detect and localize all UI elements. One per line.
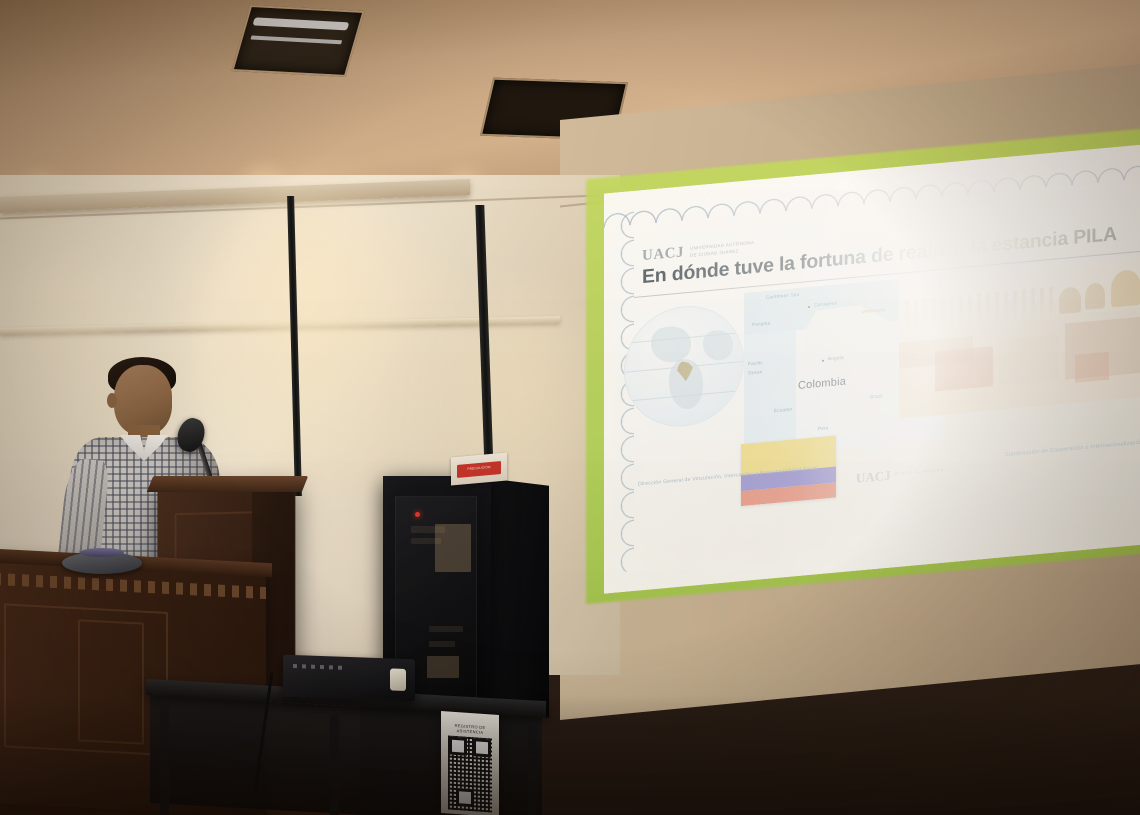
qr-code-icon[interactable]	[448, 735, 492, 782]
dentil-molding	[0, 573, 266, 599]
attendance-qr-sign[interactable]: REGISTRO DE ASISTENCIA	[441, 711, 499, 815]
map-label: Peru	[818, 425, 829, 431]
ceiling-vent-icon	[231, 5, 364, 77]
warning-label: PRECAUCIÓN	[451, 453, 507, 486]
warning-label-text: PRECAUCIÓN	[467, 466, 490, 472]
globe-graphic	[624, 301, 744, 432]
qr-code-lower	[448, 779, 492, 812]
projection-screen: UACJ UNIVERSIDAD AUTÓNOMA DE CIUDAD JUÁR…	[600, 140, 1140, 590]
av-rack-side	[487, 478, 549, 718]
slide-footer-right: Subdirección de Cooperación e Internacio…	[1005, 438, 1140, 460]
power-led-icon	[415, 512, 420, 517]
qr-sign-caption: REGISTRO DE ASISTENCIA	[441, 722, 499, 736]
podium-top	[147, 476, 308, 492]
projector-lens-icon	[390, 668, 406, 691]
presentation-room-photo: UACJ UNIVERSIDAD AUTÓNOMA DE CIUDAD JUÁR…	[0, 0, 1140, 815]
cartagena-photo	[899, 255, 1140, 418]
slide-footer-logo: UACJ RUMBO AL FUTURO	[856, 463, 944, 487]
conference-speakerphone[interactable]	[62, 552, 142, 574]
presentation-slide: UACJ UNIVERSIDAD AUTÓNOMA DE CIUDAD JUÁR…	[604, 144, 1140, 594]
projector	[283, 655, 415, 702]
footer-uacj-tagline: RUMBO AL FUTURO	[895, 468, 944, 478]
footer-uacj-wordmark: UACJ	[856, 468, 891, 487]
